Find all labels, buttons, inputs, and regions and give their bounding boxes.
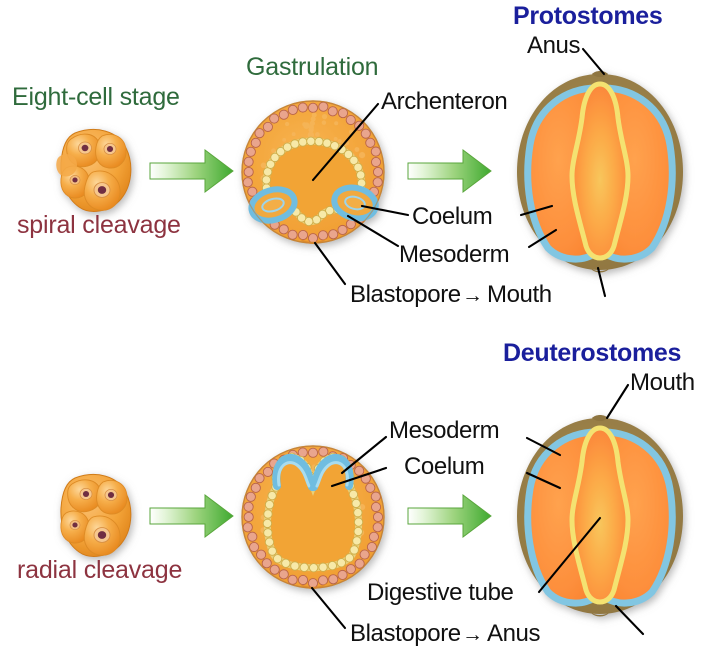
blastopore-fate-arrow-icon-2: → (462, 624, 483, 645)
bottom-mesoderm-label: Mesoderm (389, 419, 499, 443)
anus-label: Anus (527, 34, 580, 58)
bottom-mouth-label: Mouth (630, 371, 695, 395)
leader-bottom-anus (616, 606, 643, 634)
blastopore-label-2: Blastopore (350, 622, 461, 646)
transition-arrow-2 (408, 150, 491, 192)
bottom-coelum-label: Coelum (404, 455, 484, 479)
mouth-label: Mouth (487, 283, 552, 307)
eight-cell-embryo-radial (61, 474, 131, 556)
deuterostome-gastrula (242, 446, 384, 589)
bottom-anus-label: Anus (487, 622, 540, 646)
transition-arrow-3 (150, 495, 233, 537)
protostomes-heading: Protostomes (513, 4, 663, 29)
leader-blastopore (315, 243, 345, 284)
eight-cell-embryo-spiral (56, 129, 131, 211)
gastrulation-label: Gastrulation (246, 55, 378, 80)
radial-cleavage-label: radial cleavage (17, 558, 182, 583)
leader-bottom-mouth (607, 385, 628, 418)
transition-arrow-1 (150, 150, 233, 192)
spiral-cleavage-label: spiral cleavage (17, 213, 181, 238)
eight-cell-stage-label: Eight-cell stage (12, 85, 180, 110)
leader-anus (583, 49, 604, 74)
blastopore-label: Blastopore (350, 283, 461, 307)
diagram-canvas: Eight-cell stage spiral cleavage Gastrul… (0, 0, 720, 658)
protostome-adult (517, 71, 683, 273)
deuterostomes-heading: Deuterostomes (503, 341, 681, 366)
leader-mesoderm-gastrula (348, 216, 398, 246)
transition-arrow-4 (408, 495, 491, 537)
blastopore-fate-arrow-icon: → (462, 285, 483, 306)
digestive-tube-label: Digestive tube (367, 581, 514, 605)
leader-blastopore-2 (312, 588, 345, 628)
mesoderm-label: Mesoderm (399, 243, 509, 267)
coelum-label: Coelum (412, 205, 492, 229)
archenteron-label: Archenteron (381, 90, 507, 114)
